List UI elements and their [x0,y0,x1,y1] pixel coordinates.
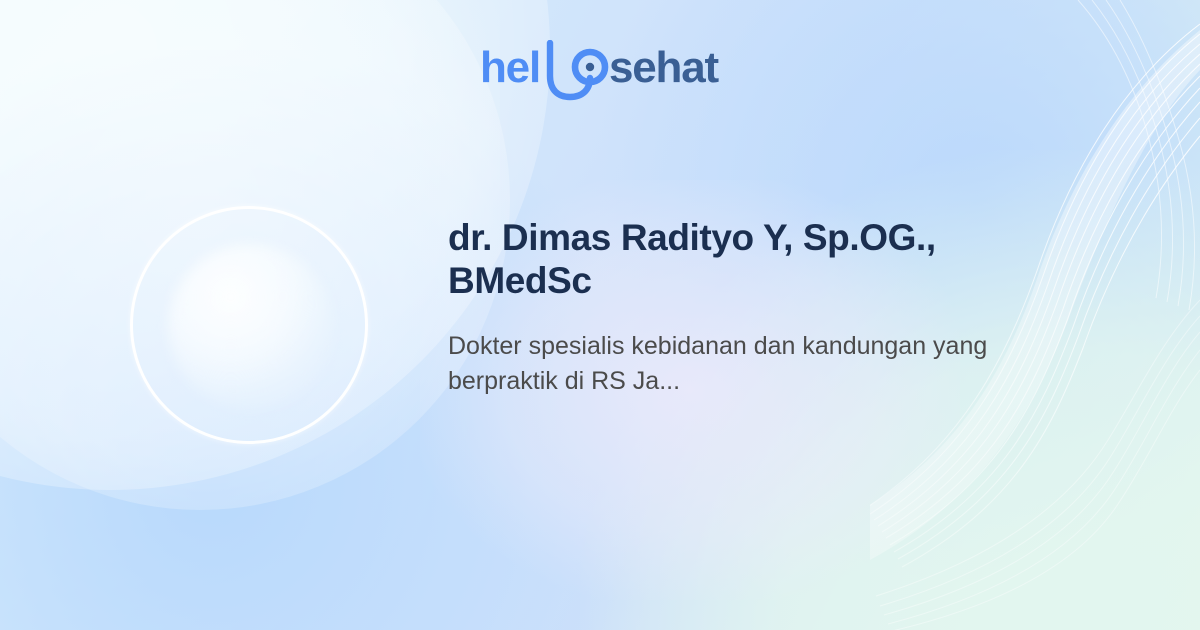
logo-text-light: hel [480,43,540,92]
logo-stethoscope-diaphragm-dot [586,63,594,71]
decorative-ring-circle [130,206,368,444]
page-title: dr. Dimas Radityo Y, Sp.OG., BMedSc [448,216,1004,303]
card-content: dr. Dimas Radityo Y, Sp.OG., BMedSc Dokt… [448,216,1048,400]
logo-text-dark: sehat [609,43,719,92]
brand-logo[interactable]: hel sehat [0,40,1200,102]
og-share-card: hel sehat dr. Dimas Radityo Y, Sp.OG., B… [0,0,1200,630]
page-subtitle: Dokter spesialis kebidanan dan kandungan… [448,329,1008,400]
hellosehat-logo-icon[interactable]: hel sehat [480,40,720,102]
